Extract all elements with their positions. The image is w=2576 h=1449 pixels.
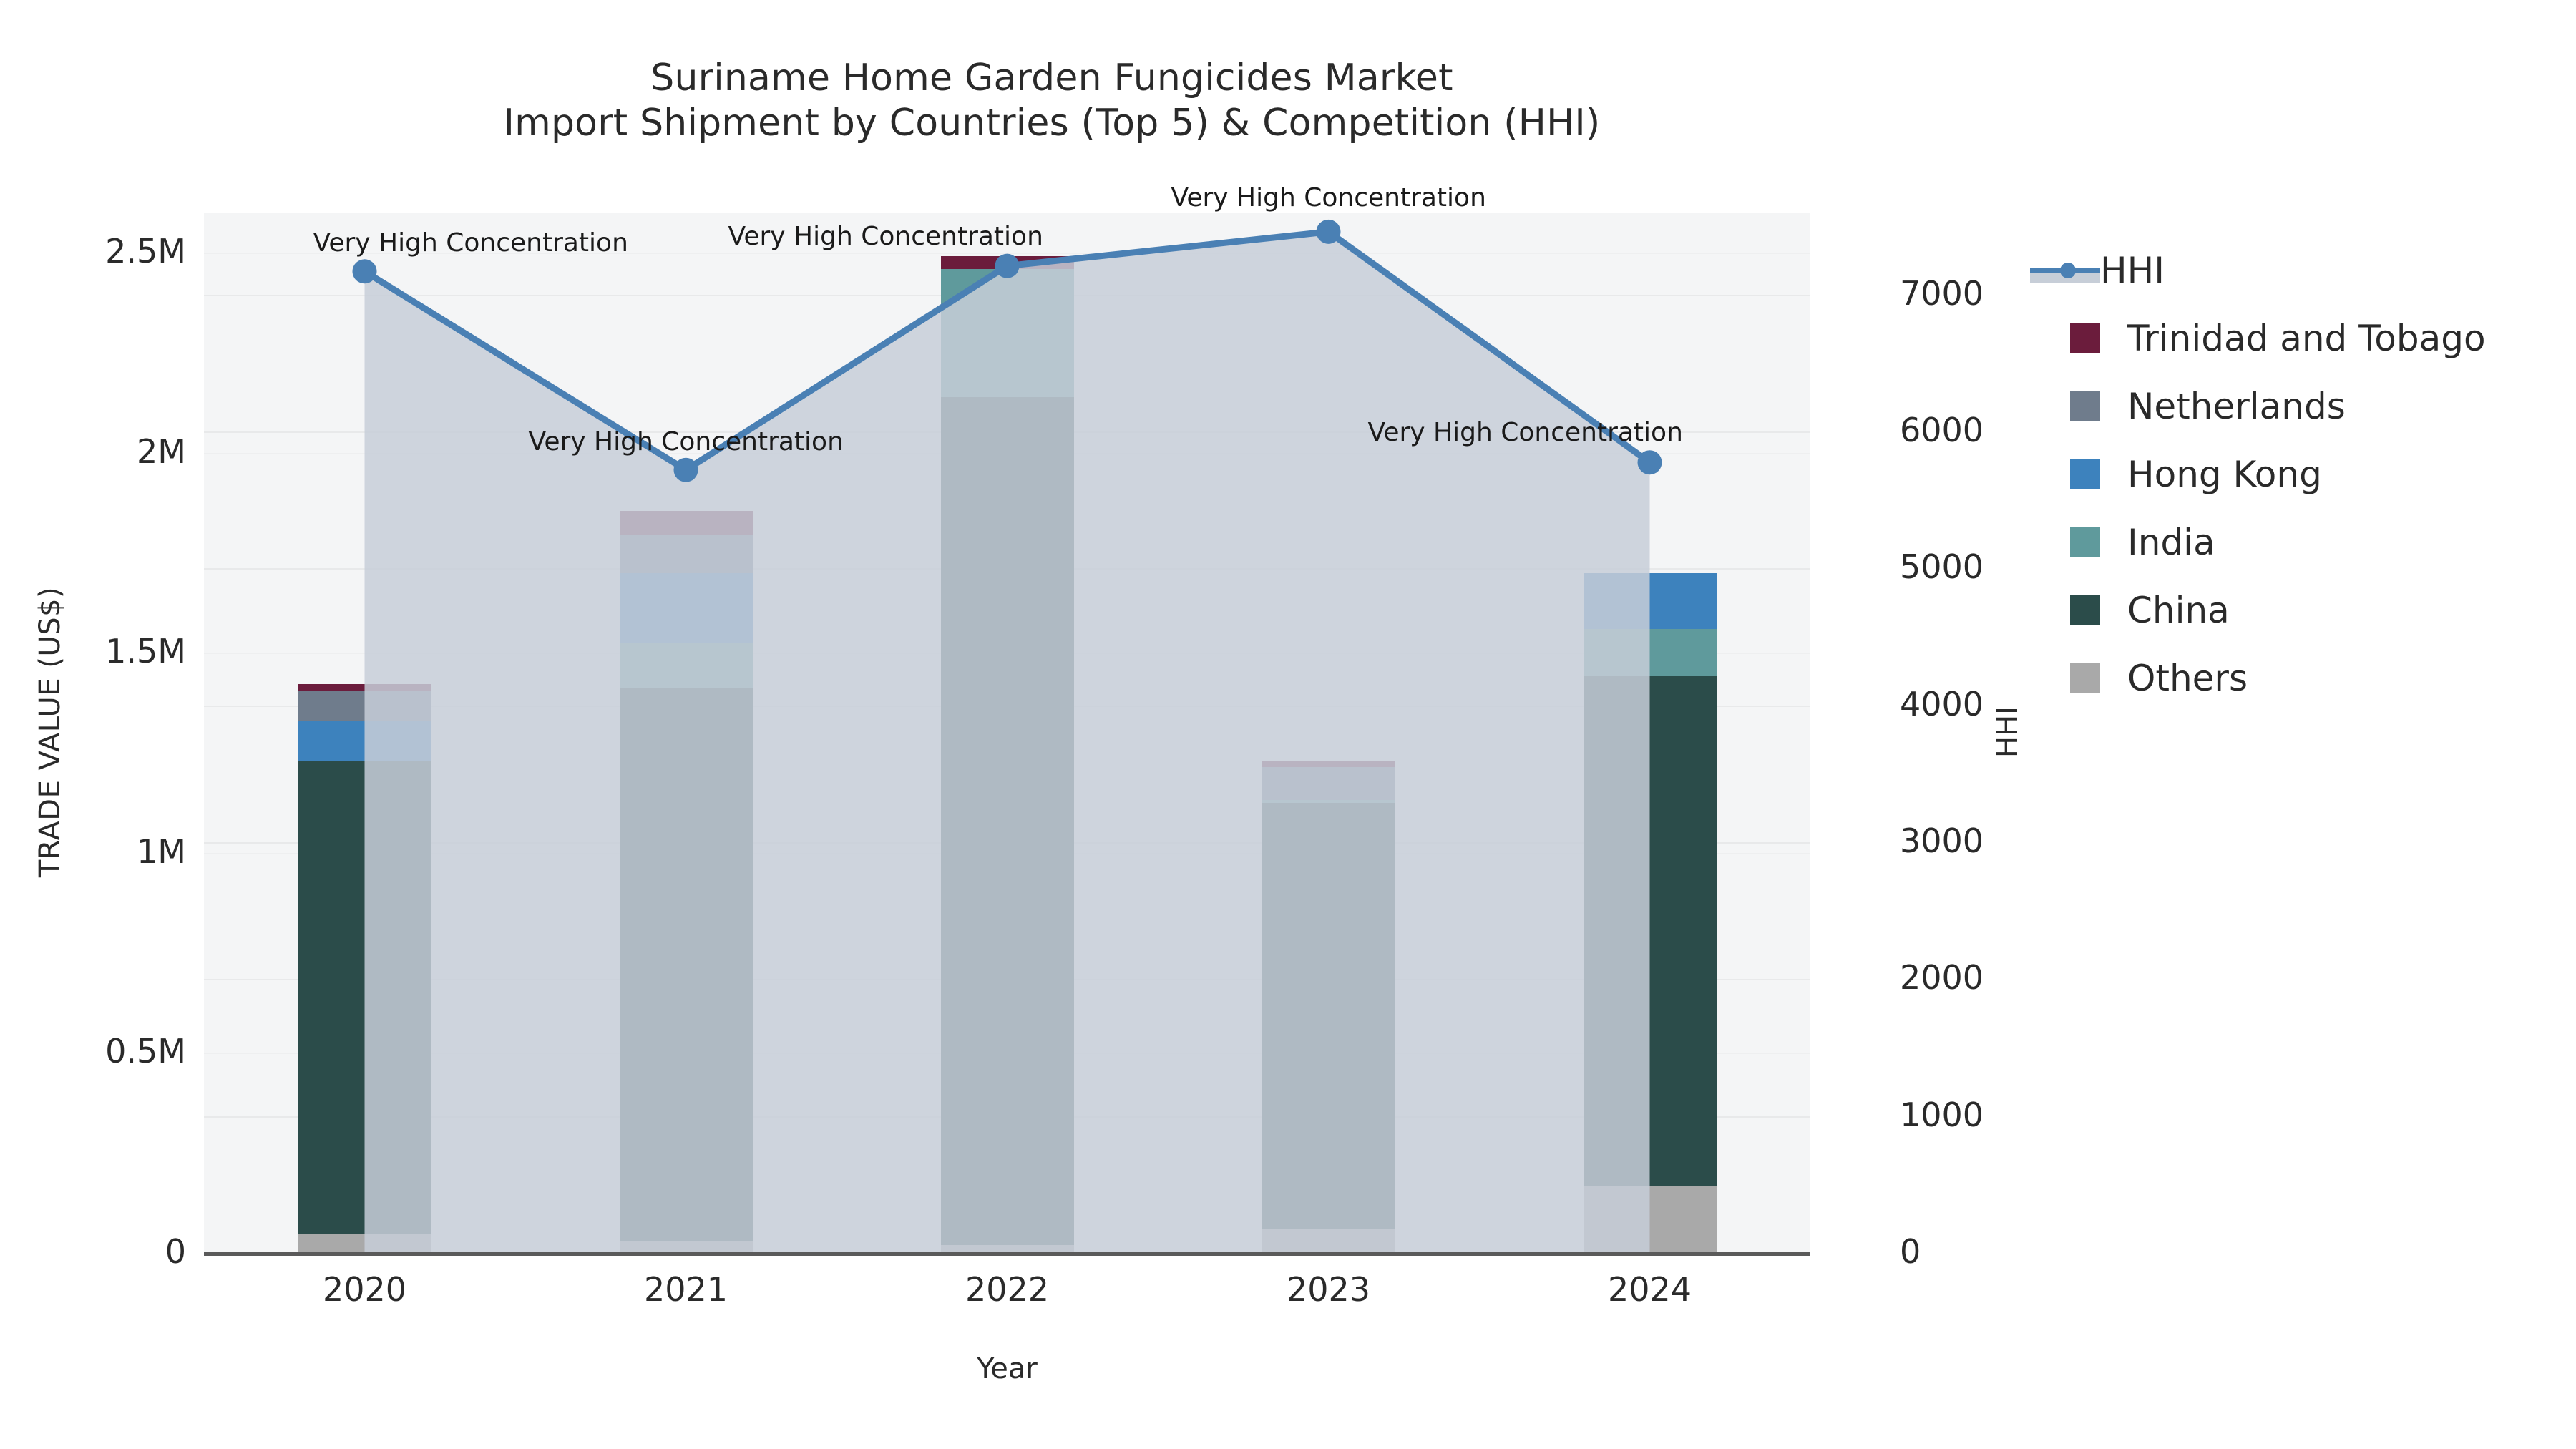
legend-item-label: Hong Kong xyxy=(2127,457,2322,492)
bar-group-2020[interactable] xyxy=(298,213,431,1254)
annotation-2021: Very High Concentration xyxy=(529,427,844,457)
bar-segment-india-2024[interactable] xyxy=(1584,629,1717,676)
legend-item-label: India xyxy=(2127,525,2215,560)
y-tick-right: 6000 xyxy=(1900,411,1984,449)
y-axis-right-label: HHI xyxy=(1991,589,2024,875)
annotation-2024: Very High Concentration xyxy=(1368,418,1683,447)
legend-line-icon xyxy=(2030,255,2100,286)
y-tick-left: 2.5M xyxy=(29,232,186,270)
x-tick-2024: 2024 xyxy=(1543,1270,1757,1309)
legend-item-hhi[interactable]: HHI xyxy=(2050,236,2551,304)
bar-group-2024[interactable] xyxy=(1584,213,1717,1254)
legend-swatch-icon xyxy=(2070,527,2100,557)
x-tick-2021: 2021 xyxy=(579,1270,794,1309)
y-tick-left: 0 xyxy=(29,1232,186,1271)
annotation-2023: Very High Concentration xyxy=(1171,183,1486,213)
bar-segment-india-2022[interactable] xyxy=(941,269,1074,397)
y-tick-left: 0.5M xyxy=(29,1032,186,1070)
y-axis-left-label: TRADE VALUE (US$) xyxy=(34,517,67,947)
bar-segment-others-2023[interactable] xyxy=(1262,1229,1395,1254)
y-tick-right: 2000 xyxy=(1900,958,1984,997)
bar-segment-trinidad-and-tobago-2022[interactable] xyxy=(941,256,1074,269)
bar-group-2022[interactable] xyxy=(941,213,1074,1254)
bar-segment-hong-kong-2024[interactable] xyxy=(1584,573,1717,629)
bar-segment-others-2024[interactable] xyxy=(1584,1186,1717,1254)
legend-item-label: Netherlands xyxy=(2127,389,2346,424)
legend-item-hong-kong[interactable]: Hong Kong xyxy=(2050,440,2551,508)
legend-swatch-icon xyxy=(2070,663,2100,693)
chart-title: Suriname Home Garden Fungicides Market I… xyxy=(0,56,2104,147)
annotation-2022: Very High Concentration xyxy=(728,222,1043,251)
x-tick-2022: 2022 xyxy=(900,1270,1115,1309)
legend-swatch-icon xyxy=(2070,323,2100,353)
legend-item-label: Trinidad and Tobago xyxy=(2127,321,2486,356)
y-tick-left: 2M xyxy=(29,432,186,471)
bar-group-2023[interactable] xyxy=(1262,213,1395,1254)
bar-segment-india-2021[interactable] xyxy=(620,643,753,688)
bar-segment-china-2022[interactable] xyxy=(941,397,1074,1245)
legend-item-others[interactable]: Others xyxy=(2050,644,2551,712)
bar-group-2021[interactable] xyxy=(620,213,753,1254)
y-tick-right: 0 xyxy=(1900,1232,1921,1271)
legend-item-label: HHI xyxy=(2100,253,2165,288)
legend-item-label: China xyxy=(2127,592,2230,628)
annotation-2020: Very High Concentration xyxy=(313,228,628,258)
x-tick-2020: 2020 xyxy=(258,1270,472,1309)
bar-segment-china-2024[interactable] xyxy=(1584,676,1717,1186)
plot-area xyxy=(204,213,1810,1254)
bar-segment-netherlands-2023[interactable] xyxy=(1262,767,1395,800)
bar-segment-trinidad-and-tobago-2023[interactable] xyxy=(1262,761,1395,767)
bar-segment-china-2021[interactable] xyxy=(620,688,753,1242)
bar-segment-trinidad-and-tobago-2021[interactable] xyxy=(620,511,753,536)
legend: HHITrinidad and TobagoNetherlandsHong Ko… xyxy=(2050,236,2551,712)
y-tick-right: 1000 xyxy=(1900,1096,1984,1134)
legend-item-trinidad-and-tobago[interactable]: Trinidad and Tobago xyxy=(2050,304,2551,372)
x-axis-line xyxy=(204,1252,1810,1256)
x-tick-2023: 2023 xyxy=(1221,1270,1436,1309)
legend-swatch-icon xyxy=(2070,391,2100,421)
bar-segment-netherlands-2020[interactable] xyxy=(298,691,431,722)
legend-item-label: Others xyxy=(2127,660,2248,696)
legend-item-netherlands[interactable]: Netherlands xyxy=(2050,372,2551,440)
legend-swatch-icon xyxy=(2070,595,2100,625)
bar-segment-netherlands-2021[interactable] xyxy=(620,535,753,573)
bar-segment-india-2023[interactable] xyxy=(1262,800,1395,803)
bar-segment-others-2020[interactable] xyxy=(298,1234,431,1254)
bar-segment-china-2020[interactable] xyxy=(298,761,431,1234)
y-tick-right: 4000 xyxy=(1900,685,1984,723)
legend-item-india[interactable]: India xyxy=(2050,508,2551,576)
legend-swatch-icon xyxy=(2070,459,2100,489)
bar-segment-hong-kong-2021[interactable] xyxy=(620,573,753,643)
bar-segment-china-2023[interactable] xyxy=(1262,803,1395,1229)
y-tick-right: 5000 xyxy=(1900,547,1984,586)
bar-segment-trinidad-and-tobago-2020[interactable] xyxy=(298,684,431,690)
legend-item-china[interactable]: China xyxy=(2050,576,2551,644)
bar-segment-hong-kong-2020[interactable] xyxy=(298,721,431,761)
x-axis-label: Year xyxy=(204,1352,1810,1385)
y-tick-right: 7000 xyxy=(1900,274,1984,313)
y-tick-right: 3000 xyxy=(1900,821,1984,860)
